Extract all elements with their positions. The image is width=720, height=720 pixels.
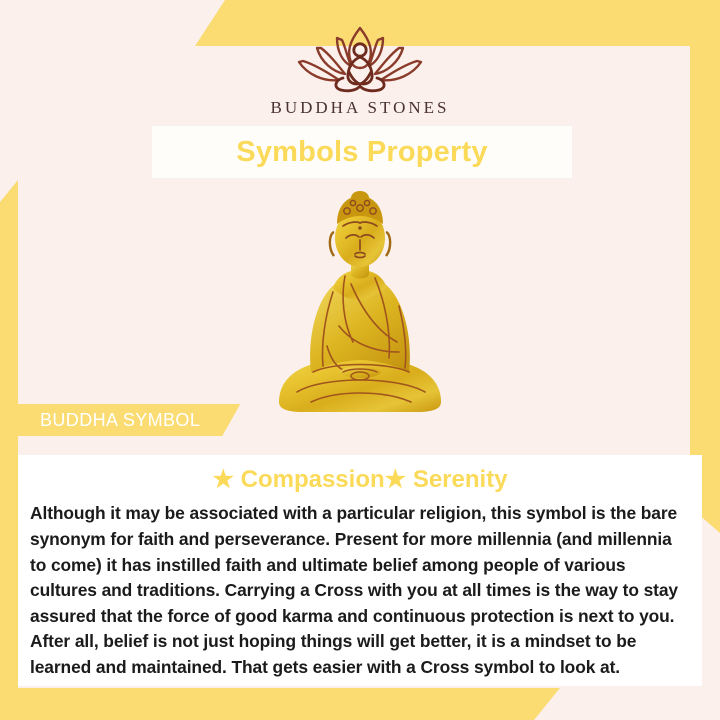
seated-buddha-icon (267, 176, 453, 416)
lotus-meditation-icon (285, 22, 435, 94)
brand-name: BUDDHA STONES (0, 98, 720, 118)
hero-image-wrap (0, 174, 720, 416)
brand-header: BUDDHA STONES (0, 22, 720, 118)
title-banner: Symbols Property (152, 126, 572, 178)
content-paragraph: Although it may be associated with a par… (30, 501, 690, 680)
decor-band-bottom (0, 688, 560, 720)
category-tag-label: BUDDHA SYMBOL (40, 410, 200, 431)
poster-root: BUDDHA STONES Symbols Property (0, 0, 720, 720)
content-card: ★ Compassion★ Serenity Although it may b… (18, 455, 702, 686)
category-tag: BUDDHA SYMBOL (18, 404, 240, 436)
page-title: Symbols Property (236, 138, 487, 167)
content-subheading: ★ Compassion★ Serenity (18, 467, 702, 493)
